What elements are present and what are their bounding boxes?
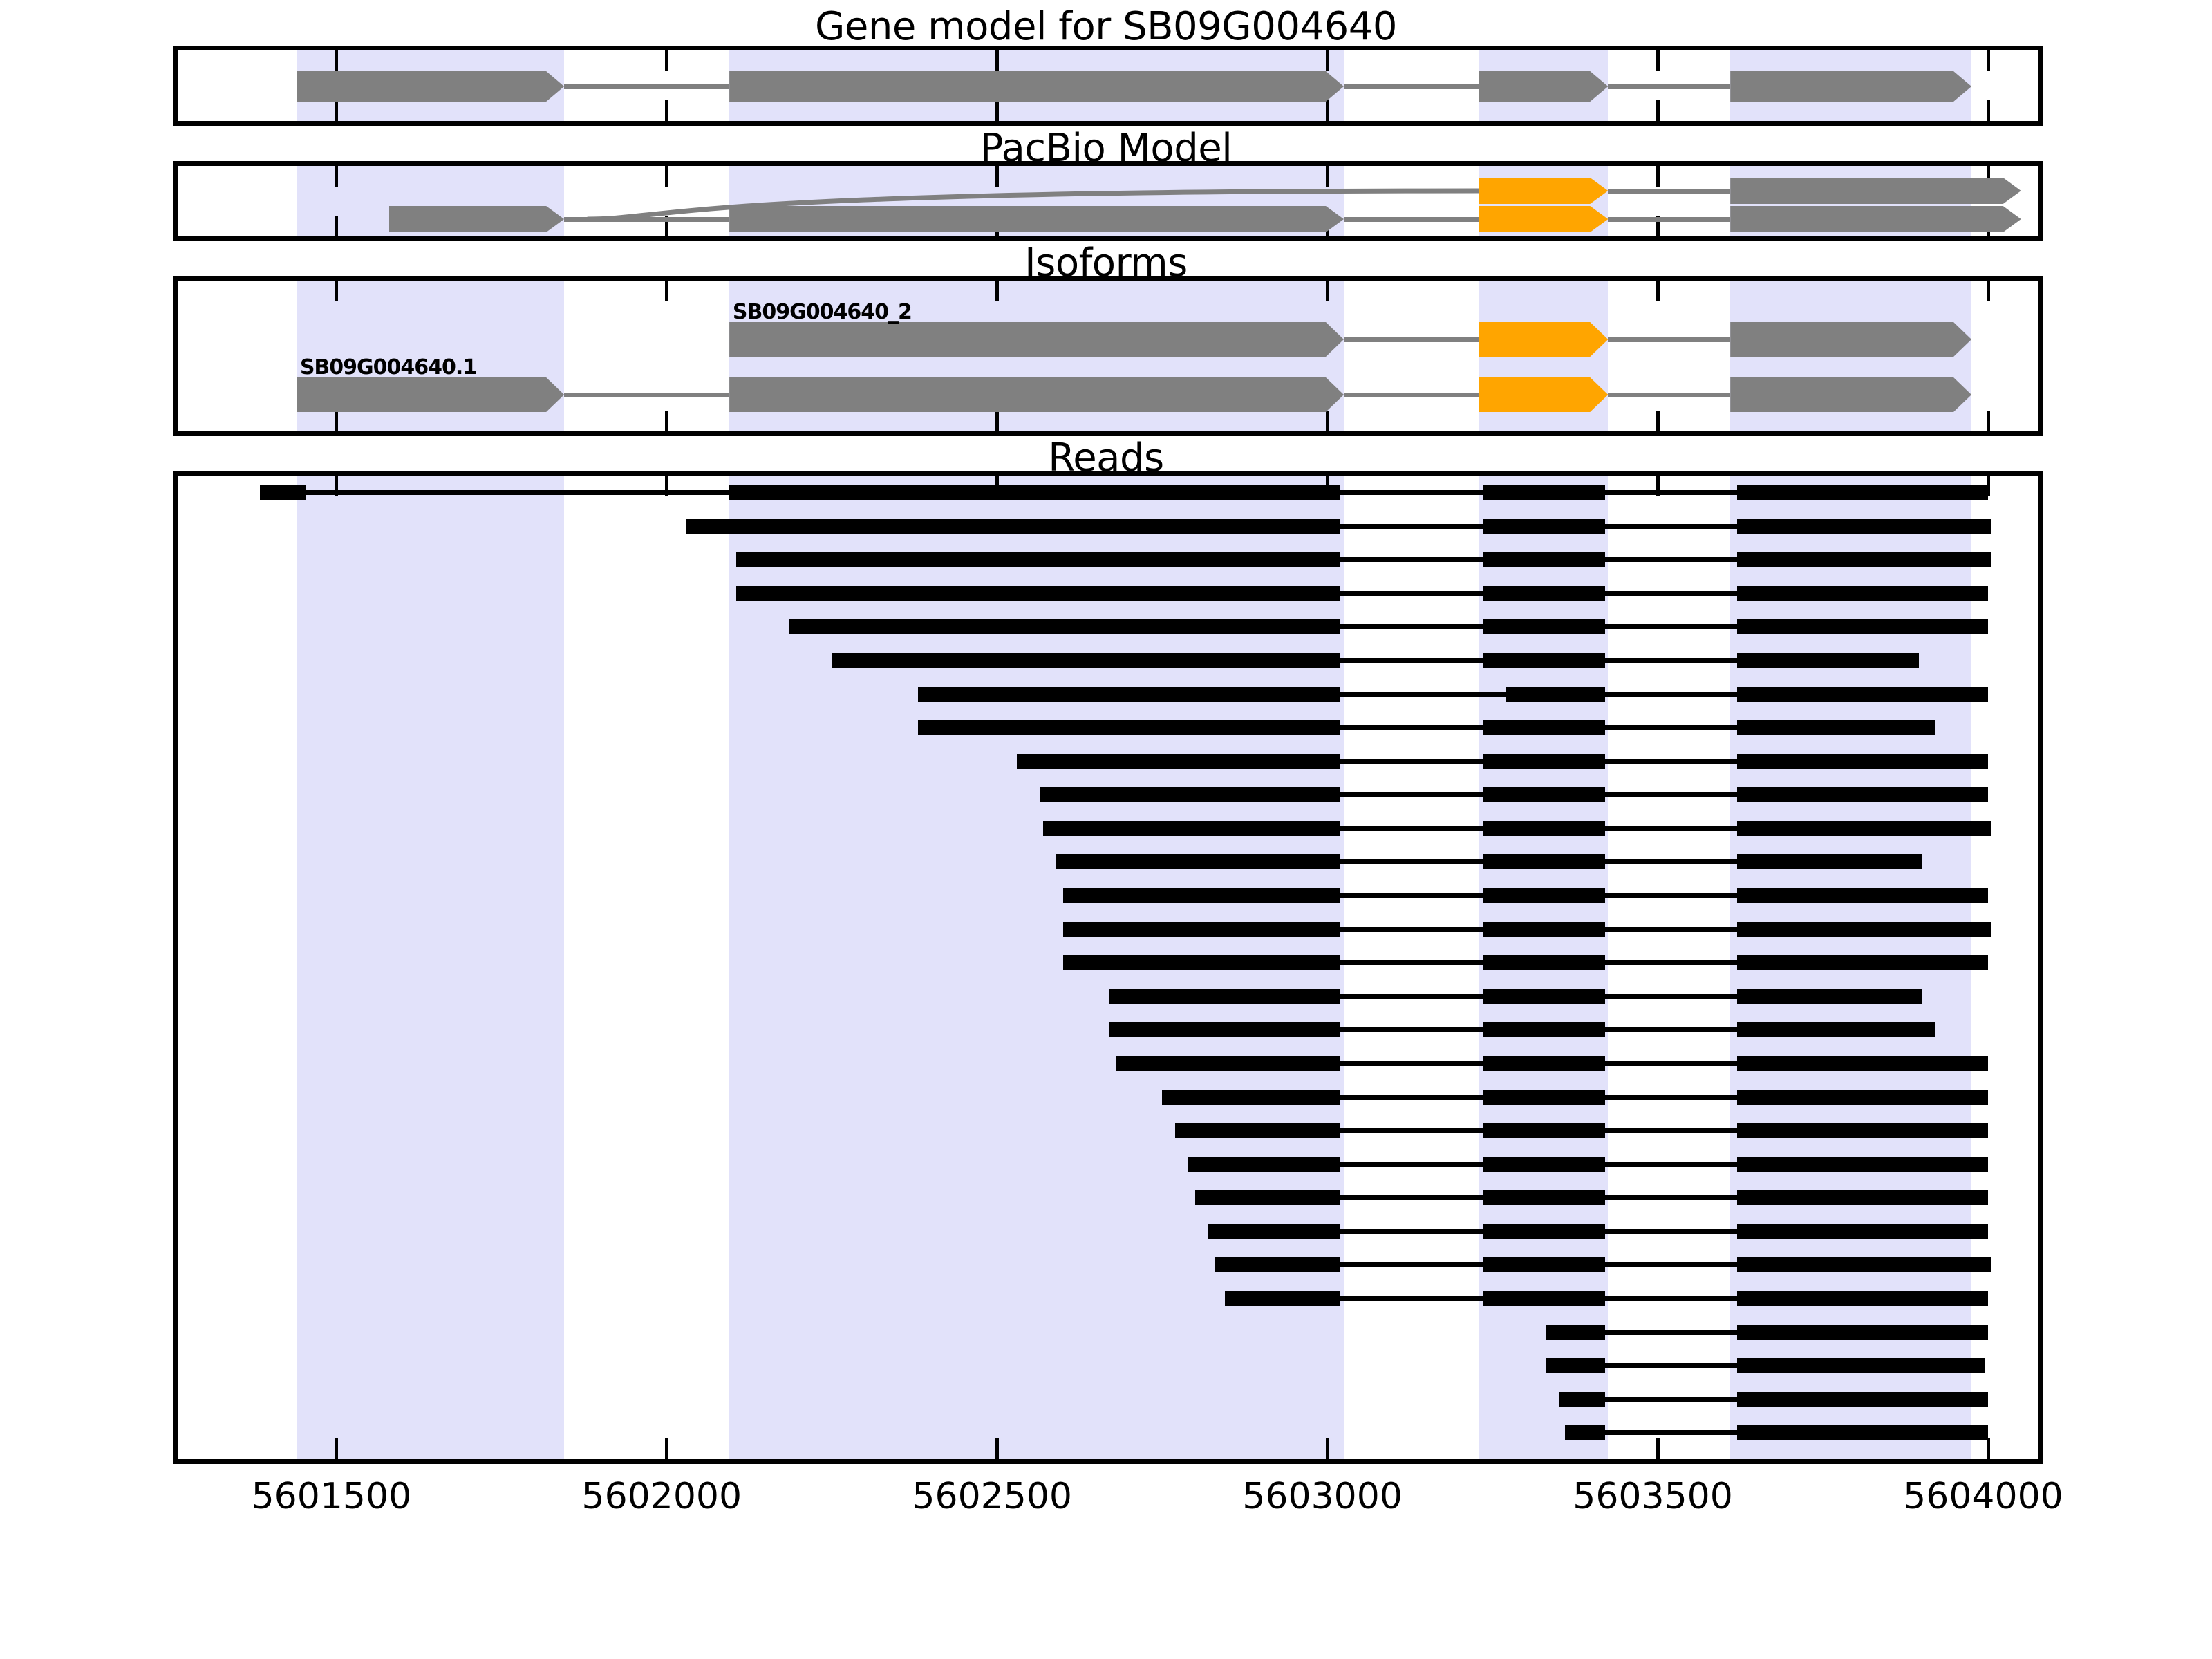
read-block[interactable] xyxy=(789,619,1340,634)
read-intron-line xyxy=(1340,1296,1483,1301)
read-block[interactable] xyxy=(1483,1291,1605,1306)
read-block[interactable] xyxy=(1737,1090,1988,1105)
axis-tick xyxy=(1987,100,1990,121)
read-intron-line xyxy=(1340,1229,1483,1234)
exon[interactable] xyxy=(1730,377,1971,412)
read-block[interactable] xyxy=(918,687,1341,702)
read-block[interactable] xyxy=(1737,989,1922,1004)
read-intron-line xyxy=(1605,859,1737,864)
axis-tick xyxy=(335,281,338,301)
read-block[interactable] xyxy=(1737,1190,1988,1205)
read-block[interactable] xyxy=(1017,754,1340,769)
read-intron-line xyxy=(1340,1195,1483,1200)
read-block[interactable] xyxy=(1737,754,1988,769)
axis-tick xyxy=(665,1438,668,1459)
read-intron-line xyxy=(1340,792,1483,797)
axis-tick xyxy=(995,411,999,431)
read-block[interactable] xyxy=(1737,854,1922,869)
axis-tick xyxy=(1326,281,1329,301)
read-block[interactable] xyxy=(1737,653,1919,668)
read-block[interactable] xyxy=(1737,1325,1988,1340)
read-block[interactable] xyxy=(1483,1056,1605,1071)
read-block[interactable] xyxy=(1483,519,1605,534)
read-intron-line xyxy=(1605,1363,1737,1368)
read-block[interactable] xyxy=(1109,1022,1341,1037)
x-tick-label: 5603500 xyxy=(1573,1476,1733,1517)
read-block[interactable] xyxy=(1737,787,1988,802)
exon[interactable] xyxy=(1730,322,1971,357)
axis-tick xyxy=(1656,1438,1660,1459)
read-intron-line xyxy=(1340,524,1483,529)
read-block[interactable] xyxy=(1483,619,1605,634)
exon[interactable] xyxy=(1479,377,1608,412)
read-intron-line xyxy=(1340,725,1483,730)
read-intron-line xyxy=(1605,960,1737,965)
read-block[interactable] xyxy=(1188,1157,1340,1172)
x-tick-label: 5601500 xyxy=(252,1476,412,1517)
read-block[interactable] xyxy=(1483,1257,1605,1272)
intron-line xyxy=(564,84,729,89)
read-intron-line xyxy=(1340,994,1483,999)
read-intron-line xyxy=(1605,927,1737,932)
read-block[interactable] xyxy=(1483,787,1605,802)
read-block[interactable] xyxy=(1565,1425,1604,1440)
read-block[interactable] xyxy=(1483,922,1605,937)
axis-tick xyxy=(665,100,668,121)
read-intron-line xyxy=(1340,692,1506,697)
axis-tick xyxy=(1987,50,1990,71)
read-block[interactable] xyxy=(736,552,1341,567)
read-intron-line xyxy=(1605,1195,1737,1200)
read-intron-line xyxy=(1340,826,1483,831)
read-block[interactable] xyxy=(1506,687,1604,702)
read-block[interactable] xyxy=(1483,888,1605,903)
read-intron-line xyxy=(1340,490,1483,495)
read-block[interactable] xyxy=(1225,1291,1340,1306)
read-block[interactable] xyxy=(1063,955,1340,970)
read-block[interactable] xyxy=(1483,586,1605,601)
intron-line xyxy=(1344,84,1479,89)
exon[interactable] xyxy=(729,71,1344,102)
axis-tick xyxy=(1326,1438,1329,1459)
x-tick-label: 5602000 xyxy=(582,1476,742,1517)
exon[interactable] xyxy=(1479,71,1608,102)
axis-tick xyxy=(1656,281,1660,301)
read-intron-line xyxy=(1605,1262,1737,1267)
read-block[interactable] xyxy=(1483,754,1605,769)
read-intron-line xyxy=(1340,624,1483,629)
read-block[interactable] xyxy=(1483,955,1605,970)
read-block[interactable] xyxy=(1737,519,1991,534)
axis-tick xyxy=(335,1438,338,1459)
reads-axes[interactable] xyxy=(173,471,2043,1464)
axis-tick xyxy=(1987,411,1990,431)
intron-line xyxy=(1344,337,1479,342)
intron-line xyxy=(1608,84,1730,89)
read-block[interactable] xyxy=(1737,687,1988,702)
read-intron-line xyxy=(1605,1128,1737,1133)
read-intron-line xyxy=(1605,1296,1737,1301)
x-tick-label: 5602500 xyxy=(912,1476,1072,1517)
read-intron-line xyxy=(1340,927,1483,932)
read-block[interactable] xyxy=(1483,854,1605,869)
read-block[interactable] xyxy=(1737,1123,1988,1138)
exon[interactable] xyxy=(297,377,564,412)
read-block[interactable] xyxy=(260,485,306,500)
read-intron-line xyxy=(1340,1061,1483,1066)
axis-tick xyxy=(1987,1438,1990,1459)
read-block[interactable] xyxy=(1737,1257,1991,1272)
read-block[interactable] xyxy=(1056,854,1340,869)
read-block[interactable] xyxy=(1483,1022,1605,1037)
read-block[interactable] xyxy=(1483,1090,1605,1105)
axis-tick xyxy=(1656,100,1660,121)
axis-tick xyxy=(665,50,668,71)
read-intron-line xyxy=(1340,893,1483,898)
axis-tick xyxy=(1987,281,1990,301)
read-block[interactable] xyxy=(1737,619,1988,634)
read-intron-line xyxy=(1605,1095,1737,1100)
read-block[interactable] xyxy=(1483,989,1605,1004)
read-block[interactable] xyxy=(1063,922,1340,937)
read-block[interactable] xyxy=(918,720,1341,735)
read-block[interactable] xyxy=(1737,1291,1988,1306)
read-block[interactable] xyxy=(1559,1392,1605,1407)
intron-line xyxy=(564,393,729,397)
read-intron-line xyxy=(1605,692,1737,697)
transcript-label: SB09G004640_2 xyxy=(733,300,912,324)
read-block[interactable] xyxy=(729,485,1340,500)
read-block[interactable] xyxy=(1483,1157,1605,1172)
axis-tick xyxy=(1656,50,1660,71)
read-intron-line xyxy=(1605,826,1737,831)
read-intron-line xyxy=(1605,725,1737,730)
exon[interactable] xyxy=(729,377,1344,412)
read-block[interactable] xyxy=(686,519,1340,534)
read-intron-line xyxy=(1605,792,1737,797)
read-block[interactable] xyxy=(1737,1056,1988,1071)
axis-tick xyxy=(995,281,999,301)
read-block[interactable] xyxy=(1737,888,1988,903)
read-intron-line xyxy=(1605,1162,1737,1167)
axis-tick xyxy=(335,411,338,431)
read-intron-line xyxy=(1340,1095,1483,1100)
intron-line xyxy=(1608,337,1730,342)
axis-tick xyxy=(1326,411,1329,431)
read-intron-line xyxy=(1605,557,1737,562)
highlight-band xyxy=(297,476,564,1459)
read-block[interactable] xyxy=(1737,1425,1988,1440)
read-block[interactable] xyxy=(1737,485,1988,500)
read-intron-line xyxy=(1605,591,1737,596)
read-block[interactable] xyxy=(1483,1190,1605,1205)
axis-tick xyxy=(335,100,338,121)
read-intron-line xyxy=(1340,759,1483,764)
read-intron-line xyxy=(1605,1027,1737,1032)
read-block[interactable] xyxy=(1737,720,1935,735)
read-block[interactable] xyxy=(1737,1157,1988,1172)
read-block[interactable] xyxy=(1737,1358,1985,1373)
read-block[interactable] xyxy=(1546,1325,1605,1340)
read-block[interactable] xyxy=(1109,989,1341,1004)
read-block[interactable] xyxy=(1483,485,1605,500)
isoforms-axes[interactable]: SB09G004640_2SB09G004640.1 xyxy=(173,276,2043,436)
transcript-label: SB09G004640.1 xyxy=(300,355,476,379)
read-intron-line xyxy=(1605,1330,1737,1335)
read-intron-line xyxy=(1605,658,1737,663)
axis-tick xyxy=(995,50,999,71)
read-intron-line xyxy=(1605,759,1737,764)
read-intron-line xyxy=(1605,490,1737,495)
read-intron-line xyxy=(1340,1262,1483,1267)
read-block[interactable] xyxy=(1737,1392,1988,1407)
read-intron-line xyxy=(1605,524,1737,529)
read-block[interactable] xyxy=(1737,586,1988,601)
axis-tick xyxy=(665,281,668,301)
gene-model-axes[interactable] xyxy=(173,46,2043,126)
read-block[interactable] xyxy=(1175,1123,1340,1138)
read-intron-line xyxy=(1605,1229,1737,1234)
read-block[interactable] xyxy=(1483,821,1605,836)
read-intron-line xyxy=(1340,1027,1483,1032)
read-block[interactable] xyxy=(1116,1056,1340,1071)
read-intron-line xyxy=(1605,1430,1737,1435)
read-block[interactable] xyxy=(1737,552,1991,567)
read-block[interactable] xyxy=(1043,821,1340,836)
axis-tick xyxy=(995,1438,999,1459)
x-tick-label: 5603000 xyxy=(1242,1476,1403,1517)
read-intron-line xyxy=(1340,658,1483,663)
intron-line xyxy=(1608,393,1730,397)
read-intron-line xyxy=(1340,1128,1483,1133)
read-intron-line xyxy=(1340,960,1483,965)
read-intron-line xyxy=(306,490,729,495)
intron-line xyxy=(1344,393,1479,397)
axis-tick xyxy=(1656,411,1660,431)
read-intron-line xyxy=(1340,1162,1483,1167)
read-block[interactable] xyxy=(1737,821,1991,836)
read-block[interactable] xyxy=(1483,653,1605,668)
read-block[interactable] xyxy=(1040,787,1340,802)
read-intron-line xyxy=(1340,591,1483,596)
read-intron-line xyxy=(1605,1061,1737,1066)
read-block[interactable] xyxy=(832,653,1340,668)
exon[interactable] xyxy=(1479,322,1608,357)
read-intron-line xyxy=(1340,859,1483,864)
read-block[interactable] xyxy=(1483,1224,1605,1239)
exon[interactable] xyxy=(729,322,1344,357)
x-tick-label: 5604000 xyxy=(1903,1476,2063,1517)
axis-tick xyxy=(665,411,668,431)
read-block[interactable] xyxy=(1483,720,1605,735)
read-block[interactable] xyxy=(1546,1358,1605,1373)
read-block[interactable] xyxy=(1737,1022,1935,1037)
read-block[interactable] xyxy=(1483,1123,1605,1138)
read-block[interactable] xyxy=(1208,1224,1340,1239)
read-intron-line xyxy=(1605,893,1737,898)
pacbio-model-axes[interactable] xyxy=(173,161,2043,241)
read-intron-line xyxy=(1340,557,1483,562)
read-block[interactable] xyxy=(1195,1190,1340,1205)
read-intron-line xyxy=(1605,994,1737,999)
read-block[interactable] xyxy=(1162,1090,1340,1105)
read-block[interactable] xyxy=(1215,1257,1341,1272)
exon[interactable] xyxy=(297,71,564,102)
read-block[interactable] xyxy=(1737,955,1988,970)
axis-tick xyxy=(335,50,338,71)
splice-connector xyxy=(178,166,2043,241)
read-block[interactable] xyxy=(1483,552,1605,567)
exon[interactable] xyxy=(1730,71,1971,102)
axis-tick xyxy=(1326,50,1329,71)
axis-tick xyxy=(995,100,999,121)
read-block[interactable] xyxy=(1737,1224,1988,1239)
read-intron-line xyxy=(1605,624,1737,629)
read-block[interactable] xyxy=(736,586,1341,601)
read-block[interactable] xyxy=(1737,922,1991,937)
axis-tick xyxy=(1326,100,1329,121)
read-intron-line xyxy=(1605,1397,1737,1402)
read-block[interactable] xyxy=(1063,888,1340,903)
page-title: Gene model for SB09G004640 xyxy=(0,4,2212,49)
